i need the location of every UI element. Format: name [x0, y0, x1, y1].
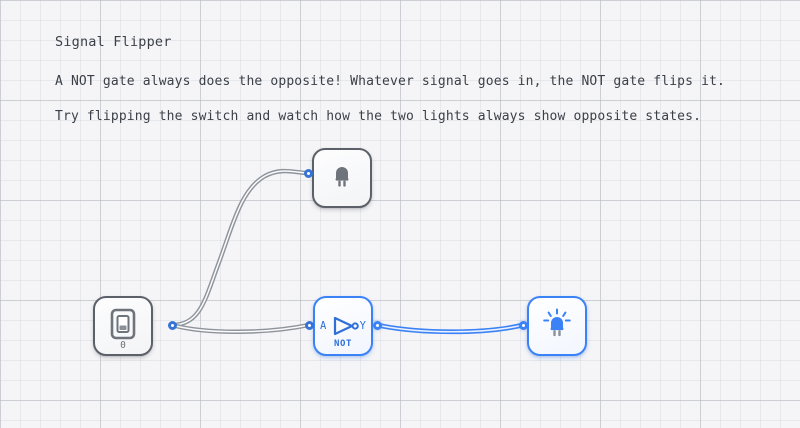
led-bulb-icon: [327, 161, 357, 195]
toggle-switch-icon: [110, 308, 136, 344]
switch-value-label: 0: [95, 341, 151, 351]
wire-switch-to-led-top: [172, 171, 308, 325]
gate-input-label-a: A: [320, 321, 326, 332]
node-led-lit[interactable]: [527, 296, 587, 356]
node-switch[interactable]: 0: [93, 296, 153, 356]
port-not-gate-input-a[interactable]: [305, 321, 314, 330]
node-not-gate[interactable]: A Y NOT: [313, 296, 373, 356]
led-bulb-lit-icon: [540, 307, 574, 345]
lesson-description-line-1: A NOT gate always does the opposite! Wha…: [55, 73, 775, 91]
wire-switch-to-not-gate: [172, 325, 309, 332]
port-led-lit-input[interactable]: [519, 321, 528, 330]
page-title: Signal Flipper: [55, 33, 775, 52]
gate-type-label: NOT: [315, 339, 371, 349]
wire-not-gate-to-led-out: [377, 325, 523, 332]
port-not-gate-output-y[interactable]: [373, 321, 382, 330]
circuit-simulator-canvas[interactable]: Signal Flipper A NOT gate always does th…: [0, 0, 800, 428]
node-led-unlit[interactable]: [312, 148, 372, 208]
port-led-unlit-input[interactable]: [304, 169, 313, 178]
not-gate-symbol-icon: [332, 316, 362, 340]
port-switch-output[interactable]: [168, 321, 177, 330]
lesson-description-line-2: Try flipping the switch and watch how th…: [55, 108, 775, 126]
lesson-text-panel: Signal Flipper A NOT gate always does th…: [55, 33, 775, 126]
